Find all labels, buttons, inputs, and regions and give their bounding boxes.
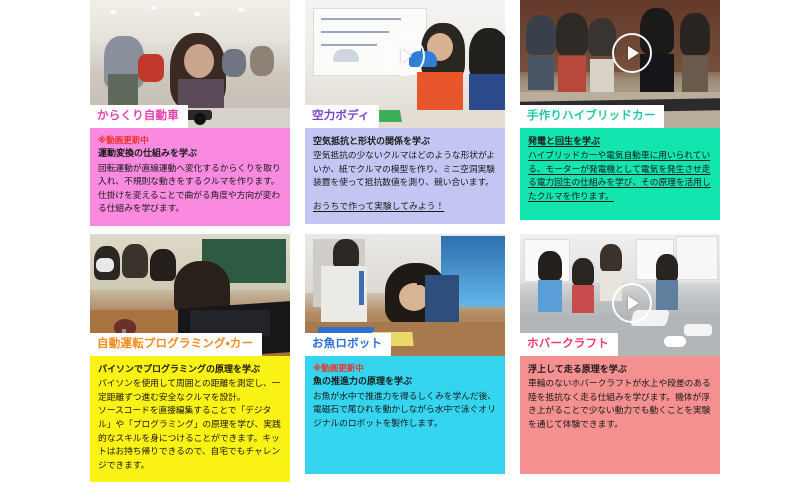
card-description: パイソンを使用して周囲との距離を測定し、一定距離ずつ進む安全なクルマを設計。ソー… — [98, 377, 282, 472]
play-button-overlay[interactable] — [612, 33, 652, 73]
card-lead: 運動変換の仕組みを学ぶ — [98, 147, 282, 160]
card-body: ※動画更新中 魚の推進力の原理を学ぶ お魚が水中で推進力を得るしくみを学んだ後、… — [305, 356, 505, 474]
card-title: お魚ロボット — [312, 339, 382, 351]
card-title: からくり自動車 — [97, 111, 179, 123]
card-body: 浮上して走る原理を学ぶ 車輪のないホバークラフトが水上や段差のある陸を抵抗なく走… — [520, 356, 720, 474]
card-title-band: お魚ロボット — [305, 333, 391, 356]
course-card-hovercraft[interactable]: ホバークラフト 浮上して走る原理を学ぶ 車輪のないホバークラフトが水上や段差のあ… — [520, 234, 720, 482]
play-button-overlay[interactable] — [385, 36, 425, 76]
card-title-band-wrap: 空力ボディ — [305, 105, 505, 128]
card-lead: パイソンでプログラミングの原理を学ぶ — [98, 363, 282, 376]
card-description: 空気抵抗の少ないクルマはどのような形状がよいか、紙でクルマの模型を作り、ミニ空洞… — [313, 149, 497, 190]
course-card-karakuri-jidosha[interactable]: からくり自動車 ※動画更新中 運動変換の仕組みを学ぶ 回転運動が直線運動へ変化す… — [90, 0, 290, 226]
card-title-band: 手作りハイブリッドカー — [520, 105, 664, 128]
card-lead: 魚の推進力の原理を学ぶ — [313, 375, 497, 388]
card-title-band-wrap: からくり自動車 — [90, 105, 290, 128]
card-title-band: からくり自動車 — [90, 105, 188, 128]
update-notice: ※動画更新中 — [98, 135, 282, 146]
play-button-overlay[interactable] — [612, 283, 652, 323]
card-gallery-page: からくり自動車 ※動画更新中 運動変換の仕組みを学ぶ 回転運動が直線運動へ変化す… — [0, 0, 800, 500]
card-lead: 発電と回生を学ぶ — [528, 135, 712, 148]
card-title-band-wrap: お魚ロボット — [305, 333, 505, 356]
card-description-paragraph: お魚が水中で推進力を得るしくみを学んだ後、電磁石で尾ひれを動かしながら水中で泳ぐ… — [313, 390, 497, 431]
card-title-band-wrap: ホバークラフト — [520, 333, 720, 356]
course-card-jidou-unten-programming-car[interactable]: 自動運転プログラミング・カー パイソンでプログラミングの原理を学ぶ パイソンを使… — [90, 234, 290, 482]
card-cta-link[interactable]: おうちで作って実験してみよう！ — [313, 199, 444, 212]
card-title: 自動運転プログラミング・カー — [97, 339, 253, 351]
card-description-paragraph: 回転運動が直線運動へ変化するからくりを取り入れ、不規則な動きをするクルマを作りま… — [98, 162, 282, 217]
play-triangle-icon — [628, 296, 639, 310]
card-body: 空気抵抗と形状の関係を学ぶ 空気抵抗の少ないクルマはどのような形状がよいか、紙で… — [305, 128, 505, 224]
card-title: ホバークラフト — [527, 339, 609, 351]
card-title-band-wrap: 手作りハイブリッドカー — [520, 105, 720, 128]
card-lead: 浮上して走る原理を学ぶ — [528, 363, 712, 376]
course-card-osakana-robot[interactable]: お魚ロボット ※動画更新中 魚の推進力の原理を学ぶ お魚が水中で推進力を得るしく… — [305, 234, 505, 482]
play-triangle-icon — [401, 49, 412, 63]
card-description: お魚が水中で推進力を得るしくみを学んだ後、電磁石で尾ひれを動かしながら水中で泳ぐ… — [313, 390, 497, 431]
card-description-paragraph: パイソンを使用して周囲との距離を測定し、一定距離ずつ進む安全なクルマを設計。 — [98, 377, 282, 404]
play-triangle-icon — [628, 46, 639, 60]
card-description-paragraph: ハイブリッドカーや電気自動車に用いられている、モーターが発電機として電気を発生さ… — [528, 149, 712, 204]
card-lead: 空気抵抗と形状の関係を学ぶ — [313, 135, 497, 148]
card-title-band-wrap: 自動運転プログラミング・カー — [90, 333, 290, 356]
card-title-band: 自動運転プログラミング・カー — [90, 333, 262, 356]
card-description: 車輪のないホバークラフトが水上や段差のある陸を抵抗なく走る仕組みを学びます。機体… — [528, 377, 712, 432]
card-body: ※動画更新中 運動変換の仕組みを学ぶ 回転運動が直線運動へ変化するからくりを取り… — [90, 128, 290, 226]
card-description: ハイブリッドカーや電気自動車に用いられている、モーターが発電機として電気を発生さ… — [528, 149, 712, 204]
update-notice: ※動画更新中 — [313, 363, 497, 374]
card-title: 空力ボディ — [312, 111, 370, 123]
card-description-paragraph: ソースコードを直接編集することで「デジタル」や「プログラミング」の原理を学び、実… — [98, 404, 282, 472]
card-title: 手作りハイブリッドカー — [527, 111, 655, 123]
card-description-paragraph: 空気抵抗の少ないクルマはどのような形状がよいか、紙でクルマの模型を作り、ミニ空洞… — [313, 149, 497, 190]
card-description-paragraph: 車輪のないホバークラフトが水上や段差のある陸を抵抗なく走る仕組みを学びます。機体… — [528, 377, 712, 432]
course-card-kuuriki-body[interactable]: 空力ボディ 空気抵抗と形状の関係を学ぶ 空気抵抗の少ないクルマはどのような形状が… — [305, 0, 505, 226]
card-grid: からくり自動車 ※動画更新中 運動変換の仕組みを学ぶ 回転運動が直線運動へ変化す… — [90, 0, 720, 482]
card-title-band: 空力ボディ — [305, 105, 379, 128]
card-body: パイソンでプログラミングの原理を学ぶ パイソンを使用して周囲との距離を測定し、一… — [90, 356, 290, 482]
card-title-band: ホバークラフト — [520, 333, 618, 356]
course-card-tezukuri-hybrid-car[interactable]: 手作りハイブリッドカー 発電と回生を学ぶ ハイブリッドカーや電気自動車に用いられ… — [520, 0, 720, 226]
card-body: 発電と回生を学ぶ ハイブリッドカーや電気自動車に用いられている、モーターが発電機… — [520, 128, 720, 220]
card-description: 回転運動が直線運動へ変化するからくりを取り入れ、不規則な動きをするクルマを作りま… — [98, 162, 282, 217]
